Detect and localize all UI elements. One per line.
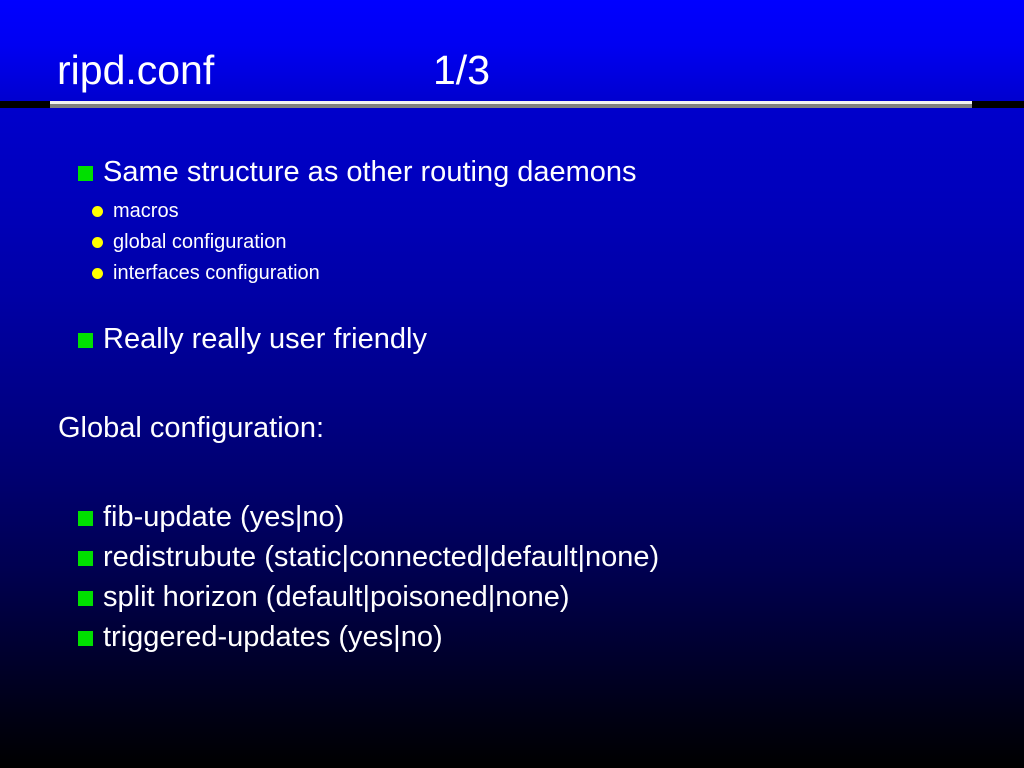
green-square-bullet-icon bbox=[78, 166, 93, 181]
green-square-bullet-icon bbox=[78, 631, 93, 646]
bullet-label: global configuration bbox=[113, 230, 286, 254]
slide-page-indicator: 1/3 bbox=[433, 46, 490, 94]
green-square-bullet-icon bbox=[78, 511, 93, 526]
green-square-bullet-icon bbox=[78, 333, 93, 348]
green-square-bullet-icon bbox=[78, 551, 93, 566]
bullet-label: triggered-updates (yes|no) bbox=[103, 621, 443, 654]
yellow-dot-bullet-icon bbox=[92, 206, 103, 217]
green-square-bullet-icon bbox=[78, 591, 93, 606]
bullet-label: fib-update (yes|no) bbox=[103, 501, 344, 534]
section-heading: Global configuration: bbox=[58, 412, 324, 445]
yellow-dot-bullet-icon bbox=[92, 237, 103, 248]
yellow-dot-bullet-icon bbox=[92, 268, 103, 279]
bullet-label: macros bbox=[113, 199, 179, 223]
title-separator-rule bbox=[50, 101, 972, 108]
bullet-label: interfaces configuration bbox=[113, 261, 320, 285]
slide-title: ripd.conf bbox=[57, 46, 214, 94]
slide-body-background: Same structure as other routing daemons … bbox=[0, 108, 1024, 768]
bullet-label: split horizon (default|poisoned|none) bbox=[103, 581, 569, 614]
presentation-slide: ripd.conf 1/3 Same structure as other ro… bbox=[0, 0, 1024, 768]
bullet-label: Same structure as other routing daemons bbox=[103, 156, 637, 189]
bullet-label: redistrubute (static|connected|default|n… bbox=[103, 541, 659, 574]
bullet-label: Really really user friendly bbox=[103, 323, 427, 356]
slide-content: Same structure as other routing daemons … bbox=[0, 108, 1024, 768]
